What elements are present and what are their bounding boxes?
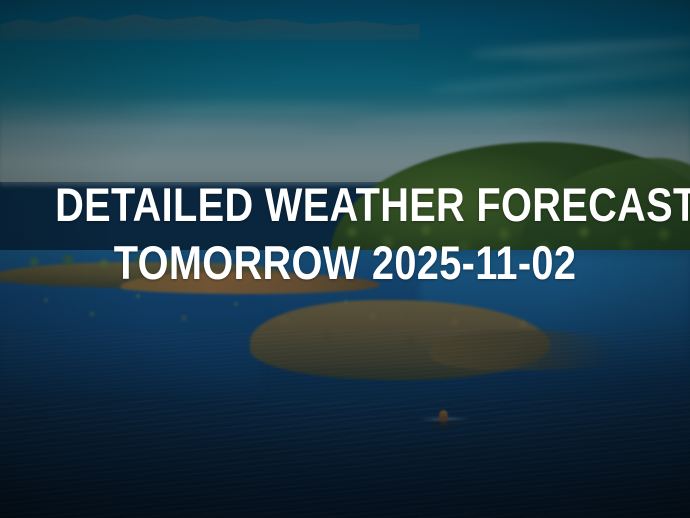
page-title: Detailed Weather Forecast For Tripura To… — [0, 176, 690, 292]
title-line-1: Detailed Weather Forecast For Tripura — [55, 176, 635, 234]
title-line-2: Tomorrow 2025-11-02 — [55, 234, 635, 292]
weather-forecast-banner: Detailed Weather Forecast For Tripura To… — [0, 0, 690, 518]
